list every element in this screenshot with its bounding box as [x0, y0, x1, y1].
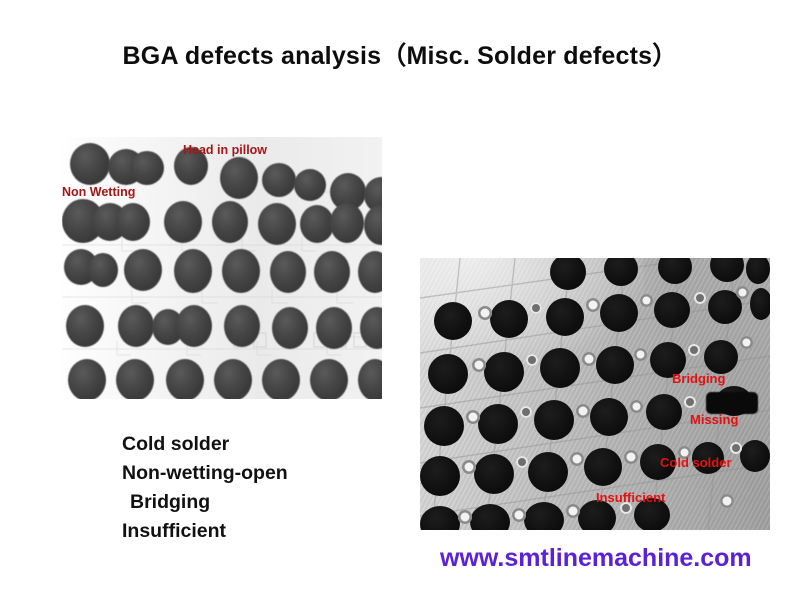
annotation-cold-solder: Cold solder	[660, 456, 732, 469]
defect-list: Cold solder Non-wetting-open Bridging In…	[122, 430, 288, 546]
defect-list-item-bridging: Bridging	[122, 488, 288, 517]
annotation-missing: Missing	[690, 413, 738, 426]
website-url[interactable]: www.smtlinemachine.com	[440, 544, 752, 573]
page-title: BGA defects analysis（Misc. Solder defect…	[0, 36, 800, 72]
bga-xray-right-image	[420, 258, 770, 530]
slide-canvas: BGA defects analysis（Misc. Solder defect…	[0, 0, 800, 600]
bga-xray-left-image	[62, 137, 382, 399]
defect-list-item-insufficient: Insufficient	[122, 517, 288, 546]
defect-list-item-cold-solder: Cold solder	[122, 430, 288, 459]
annotation-bridging: Bridging	[672, 372, 725, 385]
annotation-non-wetting: Non Wetting	[62, 186, 135, 199]
annotation-insufficient: Insufficient	[596, 491, 665, 504]
defect-list-item-non-wetting-open: Non-wetting-open	[122, 459, 288, 488]
annotation-head-in-pillow: Head in pillow	[183, 144, 267, 157]
